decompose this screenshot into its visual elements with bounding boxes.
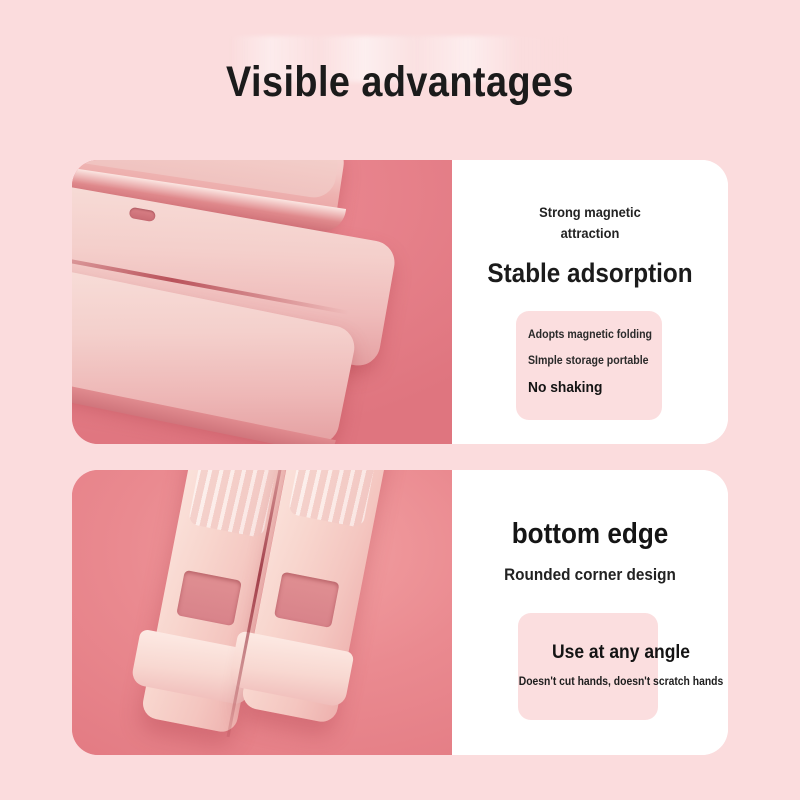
product-feature-page: Visible advantages Strong magnetic attra… bbox=[0, 0, 800, 800]
card-1-text-pane: Strong magnetic attraction Stable adsorp… bbox=[452, 160, 728, 444]
card-2-text-pane: bottom edge Rounded corner design Use at… bbox=[452, 470, 728, 755]
card-1-bullet-box: Adopts magnetic folding SImple storage p… bbox=[516, 311, 662, 420]
leg-cutout-slot bbox=[274, 572, 340, 628]
card-1-headline: Stable adsorption bbox=[466, 258, 714, 289]
card-1-bullet-1: SImple storage portable bbox=[528, 355, 649, 367]
feature-card-magnetic-attraction: Strong magnetic attraction Stable adsorp… bbox=[72, 160, 728, 444]
leg-cutout-slot bbox=[176, 570, 242, 626]
card-2-headline: bottom edge bbox=[466, 518, 714, 551]
card-2-highlight: Use at any angle bbox=[526, 642, 716, 664]
card-1-bullet-0: Adopts magnetic folding bbox=[528, 329, 652, 341]
feature-card-bottom-edge: bottom edge Rounded corner design Use at… bbox=[72, 470, 728, 755]
leg-ridge-texture bbox=[288, 470, 380, 528]
card-2-subhead: Rounded corner design bbox=[466, 565, 714, 585]
page-title: Visible advantages bbox=[48, 58, 752, 107]
product-photo-folding-legs bbox=[72, 470, 452, 755]
card-2-bullet-box: Use at any angle Doesn't cut hands, does… bbox=[518, 613, 658, 720]
product-photo-stacked-plates bbox=[72, 160, 452, 444]
card-1-eyebrow-line-2: attraction bbox=[463, 223, 717, 244]
card-1-eyebrow: Strong magnetic attraction bbox=[463, 202, 717, 244]
plate-notch bbox=[129, 207, 157, 222]
card-1-eyebrow-line-1: Strong magnetic bbox=[463, 202, 717, 223]
card-1-bullet-2: No shaking bbox=[528, 379, 602, 396]
card-2-caption: Doesn't cut hands, doesn't scratch hands bbox=[514, 676, 728, 688]
